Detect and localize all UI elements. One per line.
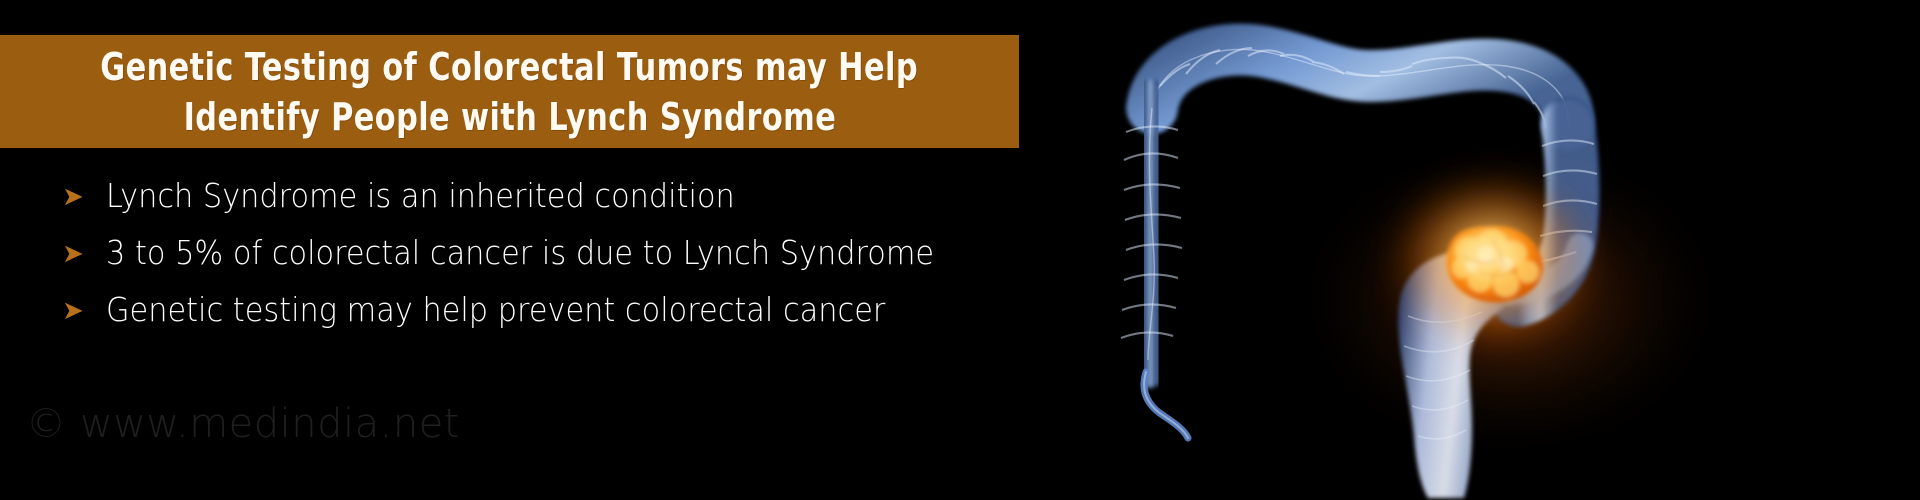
title-banner: Genetic Testing of Colorectal Tumors may… bbox=[0, 35, 1019, 148]
list-item: ➤ Lynch Syndrome is an inherited conditi… bbox=[62, 176, 1042, 233]
colon-xray-illustration bbox=[1040, 0, 1920, 500]
arrow-bullet-icon: ➤ bbox=[62, 297, 106, 323]
title-line-1: Genetic Testing of Colorectal Tumors may… bbox=[101, 42, 919, 92]
list-item-label: Genetic testing may help prevent colorec… bbox=[106, 290, 885, 330]
list-item-label: Lynch Syndrome is an inherited condition bbox=[106, 176, 735, 216]
arrow-bullet-icon: ➤ bbox=[62, 240, 106, 266]
arrow-bullet-icon: ➤ bbox=[62, 183, 106, 209]
list-item: ➤ 3 to 5% of colorectal cancer is due to… bbox=[62, 233, 1042, 290]
transverse-colon bbox=[1152, 49, 1568, 124]
banner-image: Genetic Testing of Colorectal Tumors may… bbox=[0, 0, 1920, 500]
bullet-list: ➤ Lynch Syndrome is an inherited conditi… bbox=[62, 176, 1042, 347]
tumor-core-highlight bbox=[1459, 234, 1519, 278]
copyright-icon: © bbox=[26, 404, 66, 444]
list-item-label: 3 to 5% of colorectal cancer is due to L… bbox=[106, 233, 934, 273]
list-item: ➤ Genetic testing may help prevent color… bbox=[62, 290, 1042, 347]
watermark-url: www.medindia.net bbox=[80, 404, 460, 444]
title-line-2: Identify People with Lynch Syndrome bbox=[183, 92, 836, 142]
watermark: © www.medindia.net bbox=[26, 404, 460, 444]
